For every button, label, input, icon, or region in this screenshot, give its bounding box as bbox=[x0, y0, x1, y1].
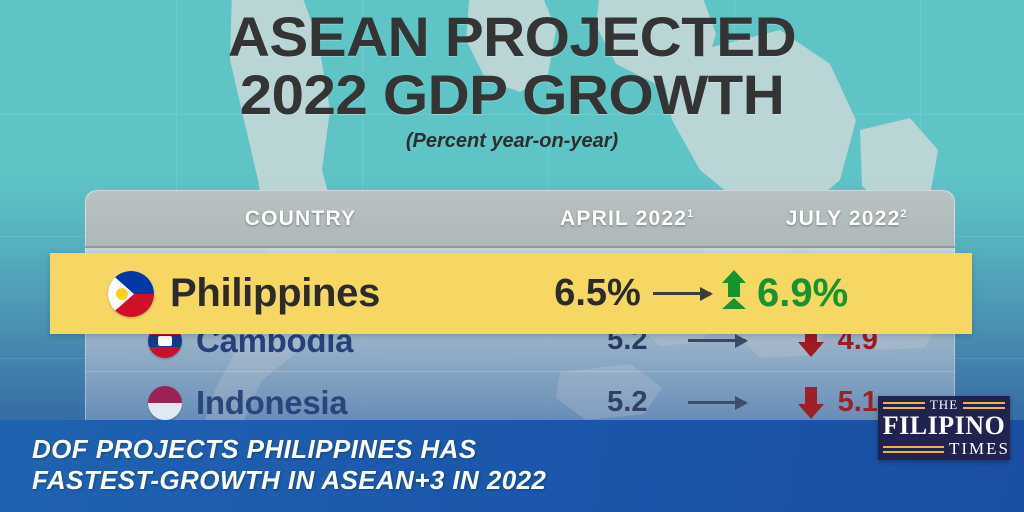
logo-rule-right bbox=[963, 402, 1005, 409]
column-header-april: APRIL 20221 bbox=[515, 207, 739, 231]
column-header-april-footnote: 1 bbox=[687, 208, 694, 220]
country-name: Philippines bbox=[170, 271, 380, 316]
logo-filipino: FILIPINO bbox=[883, 413, 1005, 439]
column-header-july-footnote: 2 bbox=[900, 208, 907, 220]
country-cell: Indonesia bbox=[86, 384, 515, 422]
caption-line-1: DOF PROJECTS PHILIPPINES HAS bbox=[32, 434, 546, 465]
value-july: 5.1 bbox=[838, 386, 878, 419]
column-header-country: COUNTRY bbox=[86, 207, 515, 231]
title-line-2: 2022 GDP GROWTH bbox=[0, 66, 1024, 124]
table-header-row: COUNTRY APRIL 20221 JULY 20222 bbox=[85, 190, 955, 248]
logo-rule-left-2 bbox=[883, 446, 944, 453]
indonesia-flag-icon bbox=[148, 386, 182, 420]
title-line-1: ASEAN PROJECTED bbox=[0, 8, 1024, 66]
value-july: 6.9% bbox=[757, 271, 848, 316]
subtitle: (Percent year-on-year) bbox=[0, 130, 1024, 153]
value-july-cell: 6.9% bbox=[705, 271, 915, 316]
filipino-times-logo: THE FILIPINO TIMES bbox=[878, 396, 1010, 460]
arrow-up-icon bbox=[723, 272, 745, 316]
logo-rule-left bbox=[883, 402, 925, 409]
caption-line-2: FASTEST-GROWTH IN ASEAN+3 IN 2022 bbox=[32, 465, 546, 496]
logo-bottom-row: TIMES bbox=[878, 439, 1010, 459]
page-title: ASEAN PROJECTED 2022 GDP GROWTH (Percent… bbox=[0, 8, 1024, 153]
philippines-flag-icon bbox=[108, 271, 154, 317]
country-cell: Philippines bbox=[50, 271, 490, 317]
caption-text: DOF PROJECTS PHILIPPINES HAS FASTEST-GRO… bbox=[32, 434, 546, 496]
column-header-april-label: APRIL 2022 bbox=[560, 207, 687, 230]
column-header-july: JULY 20222 bbox=[740, 207, 955, 231]
highlighted-row-philippines: Philippines 6.5% 6.9% bbox=[50, 253, 972, 334]
country-name: Indonesia bbox=[196, 384, 347, 422]
caption-banner: DOF PROJECTS PHILIPPINES HAS FASTEST-GRO… bbox=[0, 420, 1024, 512]
column-header-july-label: JULY 2022 bbox=[786, 207, 901, 230]
logo-times: TIMES bbox=[949, 439, 1010, 459]
